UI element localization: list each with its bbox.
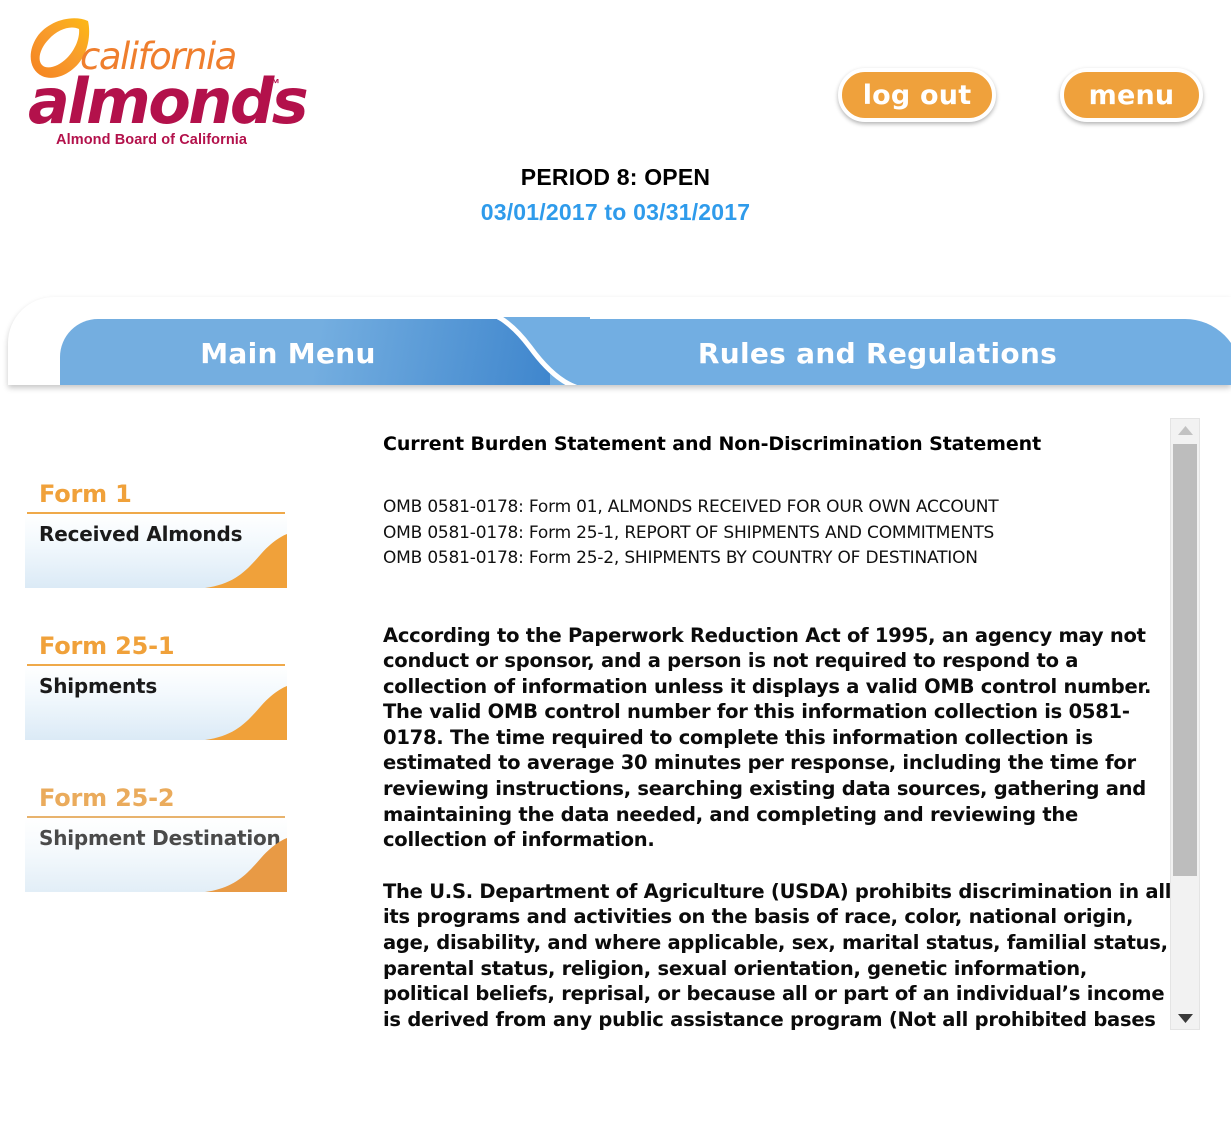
omb-reference-list: OMB 0581-0178: Form 01, ALMONDS RECEIVED…: [383, 495, 1173, 572]
period-title: PERIOD 8: OPEN: [0, 163, 1231, 191]
form-card-title: Form 1: [25, 480, 287, 512]
tab-main-menu[interactable]: Main Menu: [60, 319, 550, 385]
form-card-label: Shipments: [39, 674, 157, 698]
form-card-body: Shipment Destination: [25, 818, 287, 892]
burden-statement-panel: Current Burden Statement and Non-Discrim…: [383, 420, 1173, 1030]
tab-bar: Main Menu Rules and Regulations: [0, 297, 1231, 385]
tab-bar-inner: Main Menu Rules and Regulations: [18, 299, 1231, 385]
omb-line: OMB 0581-0178: Form 01, ALMONDS RECEIVED…: [383, 495, 1173, 521]
omb-line: OMB 0581-0178: Form 25-1, REPORT OF SHIP…: [383, 521, 1173, 547]
content-heading: Current Burden Statement and Non-Discrim…: [383, 433, 1173, 455]
period-status-block: PERIOD 8: OPEN 03/01/2017 to 03/31/2017: [0, 163, 1231, 229]
form-card-body: Received Almonds: [25, 514, 287, 588]
form-card-form-1[interactable]: Form 1 Received Almonds: [25, 480, 287, 588]
menu-button[interactable]: menu: [1060, 68, 1203, 122]
tab-rules-and-regulations-label: Rules and Regulations: [698, 337, 1057, 370]
logo-text-almonds: almonds: [28, 65, 306, 138]
form-sidebar: Form 1 Received Almonds Form 25-1 Shipme…: [25, 480, 295, 936]
orange-corner-swoosh-icon: [205, 838, 287, 892]
scroll-down-button[interactable]: [1171, 1007, 1199, 1029]
form-card-form-25-2[interactable]: Form 25-2 Shipment Destination: [25, 784, 287, 892]
form-card-title: Form 25-2: [25, 784, 287, 816]
orange-corner-swoosh-icon: [205, 534, 287, 588]
tab-rules-and-regulations[interactable]: Rules and Regulations: [550, 319, 1231, 385]
logo-trademark: ™: [267, 76, 280, 91]
content-scrollbar[interactable]: [1170, 418, 1200, 1030]
scroll-thumb[interactable]: [1173, 444, 1197, 876]
almond-board-logo: california almonds ™ Almond Board of Cal…: [18, 14, 288, 139]
log-out-button[interactable]: log out: [838, 68, 996, 122]
form-card-body: Shipments: [25, 666, 287, 740]
triangle-up-icon: [1178, 426, 1193, 435]
tab-main-menu-label: Main Menu: [200, 337, 375, 370]
omb-line: OMB 0581-0178: Form 25-2, SHIPMENTS BY C…: [383, 546, 1173, 572]
form-card-form-25-1[interactable]: Form 25-1 Shipments: [25, 632, 287, 740]
scroll-up-button[interactable]: [1171, 419, 1199, 441]
tab-bar-shell: Main Menu Rules and Regulations: [8, 297, 1231, 385]
triangle-down-icon: [1178, 1014, 1193, 1023]
paperwork-reduction-act-paragraph: According to the Paperwork Reduction Act…: [383, 623, 1173, 853]
orange-corner-swoosh-icon: [205, 686, 287, 740]
period-date-range: 03/01/2017 to 03/31/2017: [0, 195, 1231, 229]
form-card-title: Form 25-1: [25, 632, 287, 664]
logo-tagline: Almond Board of California: [56, 132, 247, 148]
non-discrimination-paragraph: The U.S. Department of Agriculture (USDA…: [383, 879, 1173, 1030]
page-header: california almonds ™ Almond Board of Cal…: [0, 0, 1231, 150]
